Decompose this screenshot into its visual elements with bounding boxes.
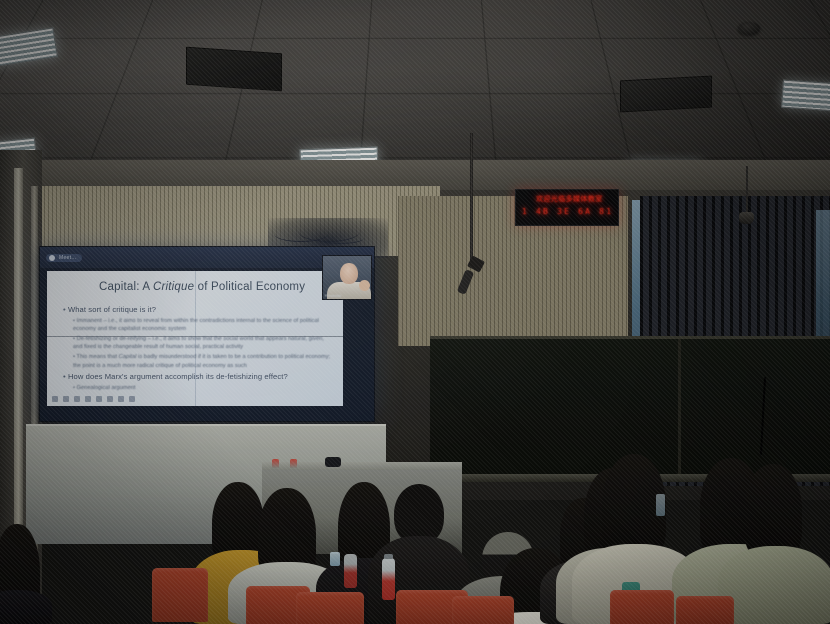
eraser-icon[interactable] <box>74 396 80 402</box>
led-sign-line-1: 欢迎光临多媒体教室 <box>536 194 612 204</box>
pointer-icon[interactable] <box>52 396 58 402</box>
bullet-italic: Capital <box>119 354 137 360</box>
slide-bullet-l2: De-fetishizing or de-reifying – i.e., it… <box>73 335 335 351</box>
save-icon[interactable] <box>129 396 135 402</box>
seat-7 <box>676 596 734 624</box>
slide-bullet-l2: This means that Capital is badly misunde… <box>73 353 335 369</box>
water-bottle-2 <box>344 554 357 588</box>
zoom-dot-icon <box>49 255 55 261</box>
presentation-slide: Capital: A Critique of Political Economy… <box>47 271 343 406</box>
attendee-11-shoulders <box>718 546 830 624</box>
annotation-toolbar[interactable] <box>52 396 135 402</box>
redo-icon[interactable] <box>107 396 113 402</box>
slide-title-italic: Critique <box>153 281 194 293</box>
pen-icon[interactable] <box>63 396 69 402</box>
audience-area <box>0 440 830 624</box>
speaker-hand <box>359 280 370 291</box>
clear-icon[interactable] <box>118 396 124 402</box>
water-bottle-1 <box>382 558 395 600</box>
seat-1 <box>152 568 208 622</box>
slide-bullet-list: What sort of critique is it? Immanent – … <box>63 305 335 394</box>
air-vent-right <box>620 76 712 113</box>
seat-5 <box>452 596 514 624</box>
slide-title-prefix: Capital: A <box>99 281 153 293</box>
smoke-detector-right <box>738 22 760 35</box>
slide-title: Capital: A Critique of Political Economy <box>99 281 335 293</box>
projection-screen[interactable]: Meet... Capital: A Critique of Political… <box>39 246 375 422</box>
laptop-screen-glow <box>656 494 665 516</box>
attendee-4 <box>394 484 444 544</box>
water-bottle-1-cap <box>384 554 393 559</box>
seat-3 <box>296 592 364 624</box>
slide-bullet-l1: What sort of critique is it? <box>63 305 335 314</box>
projector-mount-bracket <box>459 258 485 294</box>
projector-mount-rod <box>470 133 473 263</box>
phone-screen <box>330 552 340 566</box>
slide-bullet-l1: How does Marx's argument accomplish its … <box>63 372 335 381</box>
speaker-head <box>340 263 358 284</box>
pendant-rod <box>746 166 748 214</box>
bullet-prefix: This means that <box>77 354 119 360</box>
slide-bullet-l2: Immanent – i.e., it aims to reveal from … <box>73 317 335 333</box>
pendant-lamp <box>739 212 754 224</box>
attendee-12-shoulders <box>0 590 52 624</box>
speaker-name-label: Presenter <box>325 294 342 298</box>
slide-title-suffix: of Political Economy <box>194 281 305 293</box>
seat-6 <box>610 590 674 624</box>
slide-bullet-l2: Genealogical argument <box>73 384 335 392</box>
speaker-video-thumbnail[interactable]: Presenter <box>322 255 372 300</box>
led-scrolling-sign: 欢迎光临多媒体教室 1 4B 3E 6A 81 <box>515 189 619 226</box>
lecture-hall-photo: 欢迎光临多媒体教室 1 4B 3E 6A 81 Meet... Capital:… <box>0 0 830 624</box>
led-sign-line-2: 1 4B 3E 6A 81 <box>522 207 612 216</box>
undo-icon[interactable] <box>96 396 102 402</box>
zoom-chip-label: Meet... <box>59 255 76 261</box>
air-vent-left <box>186 47 282 92</box>
light-panel-5 <box>781 80 830 113</box>
cable-3 <box>316 232 364 244</box>
text-icon[interactable] <box>85 396 91 402</box>
zoom-meeting-chip[interactable]: Meet... <box>46 254 82 262</box>
